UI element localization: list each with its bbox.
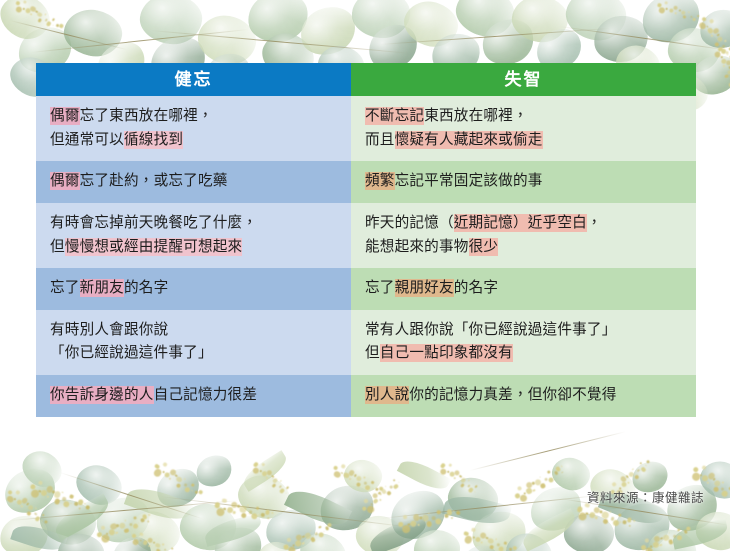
table-body: 偶爾忘了東西放在哪裡，但通常可以循線找到不斷忘記東西放在哪裡，而且懷疑有人藏起來…: [36, 96, 696, 417]
stem-icon: [160, 496, 408, 528]
highlighted-text: 不斷忘記: [365, 107, 424, 125]
seed-sprig-icon: [26, 475, 93, 521]
table-cell-right: 頻繁忘記平常固定該做的事: [351, 161, 696, 203]
leaf-icon: [192, 451, 236, 492]
highlighted-text: 自己一點印象都沒有: [380, 344, 513, 362]
leaf-icon: [671, 518, 730, 549]
highlighted-text: 頻繁: [365, 172, 395, 190]
cell-line: 而且懷疑有人藏起來或偷走: [365, 129, 696, 153]
table-row: 有時會忘掉前天晚餐吃了什麼，但慢慢想或經由提醒可想起來昨天的記憶（近期記憶）近乎…: [36, 203, 696, 268]
leaf-icon: [177, 500, 239, 551]
cell-line: 頻繁忘記平常固定該做的事: [365, 170, 696, 194]
stem-icon: [10, 20, 127, 50]
plain-text: 忘了: [50, 280, 80, 296]
leaf-icon: [637, 0, 706, 49]
leaf-icon: [124, 504, 185, 551]
plain-text: 有時別人會跟你說: [50, 322, 168, 338]
highlighted-text: 近期記憶）近乎空白: [454, 214, 587, 232]
table-row: 偶爾忘了東西放在哪裡，但通常可以循線找到不斷忘記東西放在哪裡，而且懷疑有人藏起來…: [36, 96, 696, 161]
cell-line: 有時會忘掉前天晚餐吃了什麼，: [50, 212, 351, 236]
leaf-icon: [55, 530, 107, 551]
leaf-icon: [294, 0, 362, 62]
table-row: 偶爾忘了赴約，或忘了吃藥頻繁忘記平常固定該做的事: [36, 161, 696, 203]
leaf-icon: [0, 0, 57, 48]
leaf-icon: [150, 462, 205, 514]
plain-text: 但: [365, 345, 380, 361]
table-row: 有時別人會跟你說「你已經說過這件事了」常有人跟你說「你已經說過這件事了」但自己一…: [36, 310, 696, 375]
leaf-icon: [209, 522, 267, 551]
infographic-page: 健忘 失智 偶爾忘了東西放在哪裡，但通常可以循線找到不斷忘記東西放在哪裡，而且懷…: [0, 0, 730, 551]
plain-text: 有時會忘掉前天晚餐吃了什麼，: [50, 215, 257, 231]
plain-text: 的名字: [454, 280, 498, 296]
leaf-icon: [561, 0, 631, 47]
table-row: 忘了新朋友的名字忘了親朋好友的名字: [36, 268, 696, 310]
leaf-icon: [124, 481, 194, 526]
seed-sprig-icon: [248, 457, 294, 501]
leaf-icon: [255, 538, 299, 551]
cell-line: 偶爾忘了東西放在哪裡，: [50, 105, 351, 129]
table-cell-right: 不斷忘記東西放在哪裡，而且懷疑有人藏起來或偷走: [351, 96, 696, 161]
leaf-icon: [10, 520, 68, 551]
seed-sprig-icon: [654, 0, 701, 29]
seed-sprig-icon: [357, 473, 407, 518]
table-cell-left: 偶爾忘了赴約，或忘了吃藥: [36, 161, 351, 203]
leaf-icon: [643, 524, 700, 551]
leaf-icon: [315, 480, 378, 536]
seed-sprig-icon: [510, 459, 572, 508]
leaf-icon: [366, 514, 430, 551]
highlighted-text: 你告訴身邊的人: [50, 386, 154, 404]
seed-sprig-icon: [460, 523, 518, 551]
leaf-icon: [352, 511, 407, 551]
leaf-icon: [469, 508, 530, 551]
plain-text: 常有人跟你說「你已經說過這件事了」: [365, 322, 617, 338]
leaf-icon: [60, 4, 126, 61]
plain-text: 自己記憶力很差: [154, 387, 258, 403]
cell-line: 但慢慢想或經由提醒可想起來: [50, 236, 351, 260]
cell-line: 不斷忘記東西放在哪裡，: [365, 105, 696, 129]
leaf-icon: [610, 499, 674, 551]
leaf-icon: [264, 507, 318, 551]
seed-sprig-icon: [693, 12, 730, 71]
leaf-icon: [592, 13, 651, 64]
leaf-icon: [508, 0, 571, 47]
table-cell-right: 常有人跟你說「你已經說過這件事了」但自己一點印象都沒有: [351, 310, 696, 375]
plain-text: 能想起來的事物: [365, 239, 469, 255]
plain-text: 忘了赴約，或忘了吃藥: [80, 173, 228, 189]
leaf-icon: [0, 513, 51, 551]
leaf-icon: [245, 0, 311, 46]
cell-line: 常有人跟你說「你已經說過這件事了」: [365, 319, 696, 343]
stem-icon: [10, 500, 239, 521]
leaf-icon: [458, 540, 503, 551]
highlighted-text: 懷疑有人藏起來或偷走: [395, 131, 543, 149]
leaf-icon: [284, 483, 352, 533]
cell-line: 忘了親朋好友的名字: [365, 277, 696, 301]
column-header-forgetfulness: 健忘: [36, 63, 351, 96]
cell-line: 昨天的記憶（近期記憶）近乎空白，: [365, 212, 696, 236]
seed-sprig-icon: [396, 503, 461, 538]
leaf-icon: [137, 0, 205, 48]
leaf-icon: [35, 493, 101, 551]
highlighted-text: 新朋友: [80, 279, 124, 297]
leaf-icon: [443, 471, 504, 526]
cell-line: 但自己一點印象都沒有: [365, 342, 696, 366]
table-cell-left: 偶爾忘了東西放在哪裡，但通常可以循線找到: [36, 96, 351, 161]
leaf-icon: [524, 480, 587, 537]
leaf-icon: [239, 450, 291, 492]
cell-line: 偶爾忘了赴約，或忘了吃藥: [50, 170, 351, 194]
header-row: 健忘 失智: [36, 63, 696, 96]
leaf-icon: [697, 6, 730, 51]
plain-text: 而且: [365, 132, 395, 148]
stem-icon: [150, 30, 409, 54]
table-cell-right: 昨天的記憶（近期記憶）近乎空白，能想起來的事物很少: [351, 203, 696, 268]
cell-line: 忘了新朋友的名字: [50, 277, 351, 301]
plain-text: 忘記平常固定該做的事: [395, 173, 543, 189]
leaf-icon: [519, 508, 580, 551]
cell-line: 有時別人會跟你說: [50, 319, 351, 343]
leaf-icon: [383, 483, 453, 548]
seed-sprig-icon: [128, 528, 175, 551]
stem-icon: [560, 26, 729, 51]
stem-icon: [60, 472, 203, 520]
comparison-table: 健忘 失智 偶爾忘了東西放在哪裡，但通常可以循線找到不斷忘記東西放在哪裡，而且懷…: [36, 63, 696, 417]
cell-line: 「你已經說過這件事了」: [50, 342, 351, 366]
comparison-table-wrapper: 健忘 失智 偶爾忘了東西放在哪裡，但通常可以循線找到不斷忘記東西放在哪裡，而且懷…: [36, 63, 696, 417]
leaf-icon: [398, 0, 464, 54]
seed-sprig-icon: [1, 484, 52, 531]
leaf-icon: [106, 530, 158, 551]
leaf-icon: [70, 457, 128, 512]
seed-sprig-icon: [94, 508, 156, 548]
plain-text: ，: [587, 215, 602, 231]
seed-sprig-icon: [149, 457, 206, 505]
leaf-icon: [350, 0, 413, 41]
plain-text: 「你已經說過這件事了」: [50, 345, 213, 361]
highlighted-text: 親朋好友: [395, 279, 454, 297]
stem-icon: [470, 431, 626, 471]
stem-icon: [380, 495, 599, 519]
highlighted-text: 循線找到: [124, 131, 183, 149]
cell-line: 你告訴身邊的人自己記憶力很差: [50, 384, 351, 408]
leaf-icon: [693, 508, 730, 551]
seed-sprig-icon: [435, 458, 483, 501]
leaf-icon: [294, 526, 352, 551]
leaf-icon: [500, 526, 557, 551]
leaf-icon: [16, 444, 68, 495]
table-cell-right: 忘了親朋好友的名字: [351, 268, 696, 310]
leaf-icon: [202, 513, 263, 546]
table-cell-left: 有時會忘掉前天晚餐吃了什麼，但慢慢想或經由提醒可想起來: [36, 203, 351, 268]
table-header: 健忘 失智: [36, 63, 696, 96]
highlighted-text: 很少: [469, 238, 499, 256]
highlighted-text: 偶爾: [50, 107, 80, 125]
plain-text: 但通常可以: [50, 132, 124, 148]
cell-line: 但通常可以循線找到: [50, 129, 351, 153]
highlighted-text: 慢慢想或經由提醒可想起來: [65, 238, 243, 256]
leaf-icon: [50, 493, 113, 541]
highlighted-text: 偶爾: [50, 172, 80, 190]
cell-line: 能想起來的事物很少: [365, 236, 696, 260]
leaf-icon: [451, 0, 520, 43]
table-row: 你告訴身邊的人自己記憶力很差別人說你的記憶力真差，但你卻不覺得: [36, 375, 696, 417]
leaf-icon: [232, 468, 295, 525]
highlighted-text: 別人說: [365, 386, 409, 404]
leaf-icon: [0, 462, 62, 520]
table-cell-left: 你告訴身邊的人自己記憶力很差: [36, 375, 351, 417]
table-cell-left: 忘了新朋友的名字: [36, 268, 351, 310]
seed-sprig-icon: [10, 0, 65, 38]
seed-sprig-icon: [280, 518, 336, 551]
table-cell-left: 有時別人會跟你說「你已經說過這件事了」: [36, 310, 351, 375]
plain-text: 忘了: [365, 280, 395, 296]
stem-icon: [380, 28, 610, 45]
plain-text: 你的記憶力真差，但你卻不覺得: [409, 387, 616, 403]
seed-sprig-icon: [638, 522, 694, 551]
column-header-dementia: 失智: [351, 63, 696, 96]
plain-text: 但: [50, 239, 65, 255]
plain-text: 忘了東西放在哪裡，: [80, 108, 213, 124]
leaf-icon: [442, 490, 512, 529]
seed-sprig-icon: [710, 44, 730, 94]
source-credit: 資料來源：康健雜誌: [587, 487, 704, 506]
leaf-icon: [91, 491, 155, 548]
table-cell-right: 別人說你的記憶力真差，但你卻不覺得: [351, 375, 696, 417]
seed-sprig-icon: [212, 494, 276, 530]
leaf-icon: [561, 511, 616, 551]
plain-text: 的名字: [124, 280, 168, 296]
leaf-icon: [412, 528, 462, 551]
leaf-icon: [397, 455, 451, 495]
plain-text: 東西放在哪裡，: [424, 108, 528, 124]
leaf-icon: [341, 456, 386, 496]
plain-text: 昨天的記憶（: [365, 215, 454, 231]
seed-sprig-icon: [328, 458, 388, 504]
stem-icon: [30, 29, 249, 53]
cell-line: 別人說你的記憶力真差，但你卻不覺得: [365, 384, 696, 408]
